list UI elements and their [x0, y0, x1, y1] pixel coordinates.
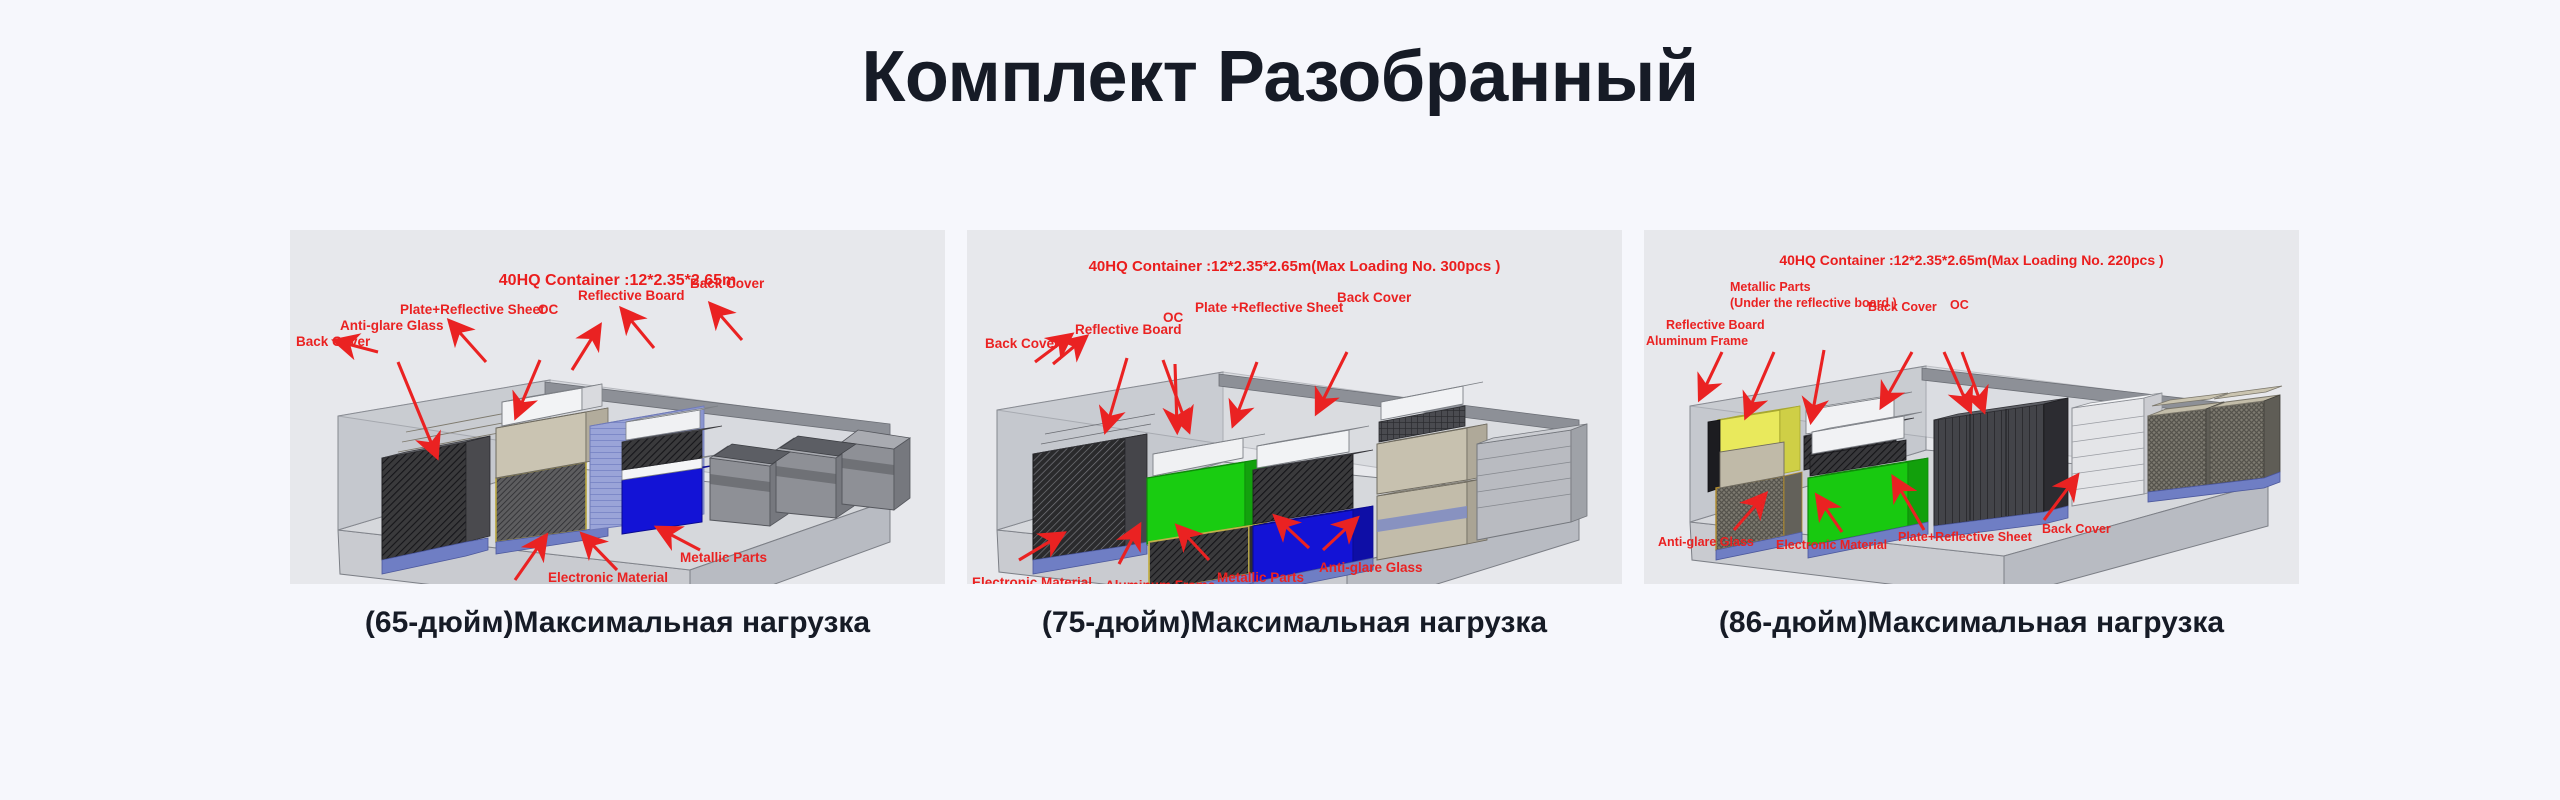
callout-back-cover-right-86: Back Cover	[2042, 522, 2111, 536]
panel-column-86: 40HQ Container :12*2.35*2.65m(Max Loadin…	[1644, 230, 2299, 640]
callout-reflective-board-65: Reflective Board	[578, 288, 685, 304]
panel-65[interactable]: 40HQ Container :12*2.35*2.65m	[290, 230, 945, 584]
callout-reflective-board-86: Reflective Board	[1666, 318, 1765, 332]
callout-metallic-parts-75: Metallic Parts	[1217, 570, 1304, 584]
callout-aluminum-frame-75: Aluminum Frame	[1105, 578, 1215, 584]
oc-backcover-86	[2148, 386, 2282, 502]
callout-plate-reflective-sheet-86: Plate+Reflective Sheet	[1898, 530, 2032, 544]
container-illustration-65	[290, 230, 945, 584]
panel-75[interactable]: 40HQ Container :12*2.35*2.65m(Max Loadin…	[967, 230, 1622, 584]
caption-65: (65-дюйм)Максимальная нагрузка	[290, 606, 945, 640]
callout-plate-reflective-sheet-65: Plate+Reflective Sheet	[400, 302, 544, 318]
callout-anti-glare-glass-65: Anti-glare Glass	[340, 318, 444, 334]
callout-aluminum-frame-86: Aluminum Frame	[1646, 334, 1748, 348]
metallic-parts-dark-86	[1934, 398, 2068, 538]
callout-oc-65: OC	[538, 302, 558, 318]
callout-back-cover-left-75: Back Cover	[985, 336, 1059, 352]
callout-electronic-material-75: Electronic Material	[972, 575, 1092, 584]
callout-oc-86: OC	[1950, 298, 1969, 312]
panel-column-75: 40HQ Container :12*2.35*2.65m(Max Loadin…	[967, 230, 1622, 640]
callout-back-cover-right-75: Back Cover	[1337, 290, 1411, 306]
callout-back-cover-right-65: Back Cover	[690, 276, 764, 292]
panel-86[interactable]: 40HQ Container :12*2.35*2.65m(Max Loadin…	[1644, 230, 2299, 584]
callout-metallic-parts-86: Metallic Parts	[1730, 280, 1811, 294]
callout-electronic-material-65: Electronic Material	[548, 570, 668, 584]
container-illustration-75	[967, 230, 1622, 584]
page-title: Комплект Разобранный	[0, 36, 2560, 118]
callout-plate-reflective-sheet-75: Plate +Reflective Sheet	[1195, 300, 1343, 316]
anti-glare-glass-75	[1477, 424, 1587, 540]
page-root: Комплект Разобранный 40HQ Container :12*…	[0, 0, 2560, 800]
callout-back-cover-left-65: Back Cover	[296, 334, 370, 350]
callout-electronic-material-86: Electronic Material	[1776, 538, 1887, 552]
callout-oc-75: OC	[1163, 310, 1183, 326]
panel-row: 40HQ Container :12*2.35*2.65m	[290, 230, 2275, 640]
callout-metallic-parts-65: Metallic Parts	[680, 550, 767, 566]
callout-anti-glare-glass-75: Anti-glare Glass	[1319, 560, 1423, 576]
caption-86: (86-дюйм)Максимальная нагрузка	[1644, 606, 2299, 640]
callout-back-cover-top-86: Back Cover	[1868, 300, 1937, 314]
callout-anti-glare-glass-86: Anti-glare Glass	[1658, 535, 1754, 549]
caption-75: (75-дюйм)Максимальная нагрузка	[967, 606, 1622, 640]
panel-column-65: 40HQ Container :12*2.35*2.65m	[290, 230, 945, 640]
